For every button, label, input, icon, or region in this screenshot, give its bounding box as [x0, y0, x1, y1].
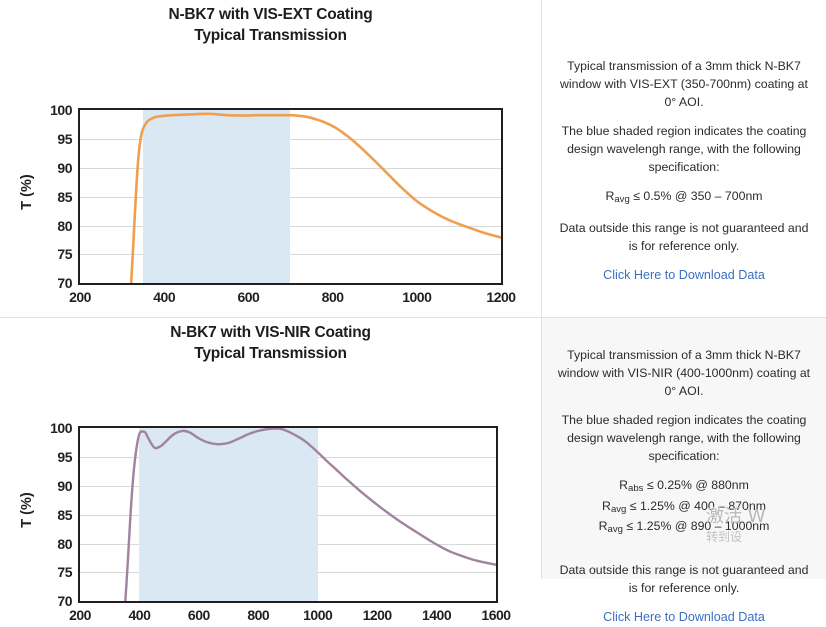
chart-title-line1: N-BK7 with VIS-NIR Coating — [170, 324, 371, 341]
chart-panel-vis-ext: N-BK7 with VIS-EXT Coating Typical Trans… — [0, 0, 541, 318]
y-tick-label: 100 — [30, 102, 72, 118]
plot-area-vis-ext — [78, 108, 503, 285]
x-tick-label: 200 — [69, 289, 91, 305]
chart-title-line1: N-BK7 with VIS-EXT Coating — [168, 6, 372, 23]
chart-title-vis-nir: N-BK7 with VIS-NIR Coating Typical Trans… — [0, 318, 541, 364]
x-tick-label: 600 — [237, 289, 259, 305]
x-tick-label: 800 — [322, 289, 344, 305]
specification-list-vis-ext: Ravg ≤ 0.5% @ 350 – 700nm — [556, 187, 812, 207]
chart-title-vis-ext: N-BK7 with VIS-EXT Coating Typical Trans… — [0, 0, 541, 46]
x-tick-label: 400 — [153, 289, 175, 305]
x-tick-label: 1200 — [486, 289, 515, 305]
spec-line: Ravg ≤ 0.5% @ 350 – 700nm — [556, 187, 812, 207]
x-tick-label: 400 — [128, 607, 150, 623]
info-copy-vis-nir: Typical transmission of a 3mm thick N-BK… — [542, 318, 826, 627]
x-tick-label: 1400 — [422, 607, 451, 623]
x-tick-label: 1200 — [363, 607, 392, 623]
description-vis-ext: Typical transmission of a 3mm thick N-BK… — [556, 57, 812, 111]
x-tick-label: 200 — [69, 607, 91, 623]
shaded-note-vis-nir: The blue shaded region indicates the coa… — [556, 411, 812, 465]
y-tick-label: 95 — [30, 449, 72, 465]
spec-line: Ravg ≤ 1.25% @ 400 – 870nm — [556, 497, 812, 517]
x-tick-label: 1600 — [481, 607, 510, 623]
x-tick-label: 1000 — [402, 289, 431, 305]
disclaimer-vis-ext: Data outside this range is not guarantee… — [556, 219, 812, 255]
y-tick-label: 80 — [30, 536, 72, 552]
x-tick-label: 1000 — [303, 607, 332, 623]
plot-area-vis-nir — [78, 426, 498, 603]
transmission-curve-vis-nir — [80, 428, 496, 601]
y-tick-label: 90 — [30, 160, 72, 176]
y-tick-label: 80 — [30, 218, 72, 234]
page-root: N-BK7 with VIS-EXT Coating Typical Trans… — [0, 0, 826, 579]
y-tick-label: 70 — [30, 593, 72, 609]
spec-line: Rabs ≤ 0.25% @ 880nm — [556, 476, 812, 496]
x-tick-label: 800 — [247, 607, 269, 623]
spec-line: Ravg ≤ 1.25% @ 890 – 1000nm — [556, 517, 812, 537]
y-tick-label: 100 — [30, 420, 72, 436]
info-panel-vis-nir: Typical transmission of a 3mm thick N-BK… — [541, 318, 826, 579]
shaded-note-vis-ext: The blue shaded region indicates the coa… — [556, 122, 812, 176]
description-vis-nir: Typical transmission of a 3mm thick N-BK… — [556, 346, 812, 400]
specification-list-vis-nir: Rabs ≤ 0.25% @ 880nmRavg ≤ 1.25% @ 400 –… — [556, 476, 812, 537]
y-tick-label: 70 — [30, 275, 72, 291]
download-data-link-vis-nir[interactable]: Click Here to Download Data — [603, 610, 765, 624]
download-data-link-vis-ext[interactable]: Click Here to Download Data — [603, 268, 765, 282]
y-tick-label: 85 — [30, 189, 72, 205]
info-panel-vis-ext: Typical transmission of a 3mm thick N-BK… — [541, 0, 826, 318]
transmission-curve-vis-ext — [80, 110, 501, 283]
disclaimer-vis-nir: Data outside this range is not guarantee… — [556, 561, 812, 597]
chart-title-line2: Typical Transmission — [0, 344, 541, 365]
y-tick-label: 90 — [30, 478, 72, 494]
chart-panel-vis-nir: N-BK7 with VIS-NIR Coating Typical Trans… — [0, 318, 541, 579]
x-tick-label: 600 — [188, 607, 210, 623]
y-tick-label: 95 — [30, 131, 72, 147]
y-tick-label: 75 — [30, 564, 72, 580]
y-tick-label: 85 — [30, 507, 72, 523]
chart-title-line2: Typical Transmission — [0, 26, 541, 47]
info-copy-vis-ext: Typical transmission of a 3mm thick N-BK… — [542, 0, 826, 284]
y-tick-label: 75 — [30, 246, 72, 262]
